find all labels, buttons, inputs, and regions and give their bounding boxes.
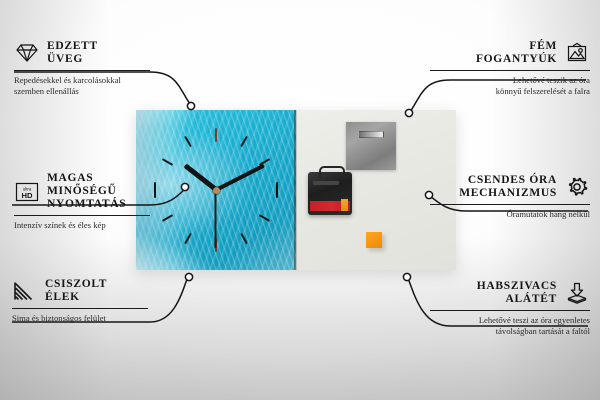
hour-marker bbox=[215, 136, 248, 191]
foam-pad bbox=[366, 232, 382, 248]
callout-tempered-glass: EDZETT ÜVEG Repedésekkel és karcolásokka… bbox=[14, 40, 150, 96]
callout-polished-edges: CSISZOLT ÉLEK Sima és biztonságos felüle… bbox=[12, 278, 148, 324]
svg-text:HD: HD bbox=[22, 191, 33, 200]
hour-marker bbox=[216, 189, 271, 222]
callout-rule bbox=[430, 310, 590, 311]
callout-title: FÉM FOGANTYÚK bbox=[476, 40, 557, 66]
callout-metal-handles: FÉM FOGANTYÚK Lehetővé teszik az óra kön… bbox=[430, 40, 590, 96]
mechanism-slot bbox=[313, 181, 339, 185]
callout-title: CSISZOLT ÉLEK bbox=[45, 278, 107, 304]
callout-hd-print: ultra HD MAGAS MINŐSÉGŰ NYOMTATÁS Intenz… bbox=[14, 172, 150, 231]
callout-title: EDZETT ÜVEG bbox=[47, 40, 98, 66]
hour-marker bbox=[216, 189, 278, 191]
panel-divider bbox=[294, 110, 297, 270]
clock-center-pin bbox=[213, 187, 220, 194]
callout-title: CSENDES ÓRA MECHANIZMUS bbox=[459, 174, 557, 200]
hour-marker bbox=[215, 190, 248, 245]
gear-icon bbox=[564, 176, 590, 198]
clock-minute-hand bbox=[215, 164, 265, 192]
connector-endpoint bbox=[185, 273, 192, 280]
callout-rule bbox=[430, 204, 590, 205]
callout-subtitle: Lehetővé teszi az óra egyenletes távolsá… bbox=[430, 315, 590, 336]
callout-rule bbox=[14, 70, 150, 71]
hour-marker bbox=[216, 158, 271, 191]
picture-frame-hanging-icon bbox=[564, 42, 590, 64]
callout-subtitle: Intenzív színek és éles kép bbox=[14, 220, 150, 231]
clock-face-panel bbox=[136, 110, 296, 270]
callout-title: MAGAS MINŐSÉGŰ NYOMTATÁS bbox=[47, 172, 150, 211]
hour-marker bbox=[154, 189, 216, 191]
hour-marker bbox=[162, 158, 217, 191]
callout-title: HABSZIVACS ALÁTÉT bbox=[477, 280, 557, 306]
metal-hanger bbox=[346, 122, 396, 170]
hour-marker bbox=[162, 189, 217, 222]
hour-marker bbox=[215, 190, 217, 252]
clock-second-hand bbox=[215, 190, 217, 248]
callout-rule bbox=[14, 215, 150, 216]
callout-subtitle: Óramutatók hang nélkül bbox=[430, 209, 590, 220]
connector-endpoint bbox=[403, 273, 410, 280]
clock-hour-hand bbox=[183, 163, 218, 192]
infographic-canvas: EDZETT ÜVEG Repedésekkel és karcolásokka… bbox=[0, 0, 600, 400]
hour-marker bbox=[215, 128, 217, 190]
callout-foam-pad: HABSZIVACS ALÁTÉT Lehetővé teszi az óra … bbox=[430, 280, 590, 336]
arrow-down-onto-pad-icon bbox=[564, 282, 590, 304]
callout-subtitle: Sima és biztonságos felület bbox=[12, 313, 148, 324]
callout-subtitle: Repedésekkel és karcolásokkal szemben el… bbox=[14, 75, 150, 96]
product-photo bbox=[136, 110, 456, 270]
polished-edges-icon bbox=[12, 280, 38, 302]
callout-rule bbox=[12, 308, 148, 309]
callout-subtitle: Lehetővé teszik az óra könnyű felszerelé… bbox=[430, 75, 590, 96]
hour-marker bbox=[184, 136, 217, 191]
ultra-hd-icon: ultra HD bbox=[14, 181, 40, 203]
mechanism-label bbox=[310, 201, 350, 211]
mechanism-bail bbox=[319, 166, 345, 178]
clock-mechanism bbox=[308, 172, 352, 215]
hour-marker bbox=[184, 190, 217, 245]
diamond-icon bbox=[14, 42, 40, 64]
callout-silent-mechanism: CSENDES ÓRA MECHANIZMUS Óramutatók hang … bbox=[430, 174, 590, 220]
callout-rule bbox=[430, 70, 590, 71]
clock-dial bbox=[136, 110, 296, 270]
connector-endpoint bbox=[187, 102, 194, 109]
